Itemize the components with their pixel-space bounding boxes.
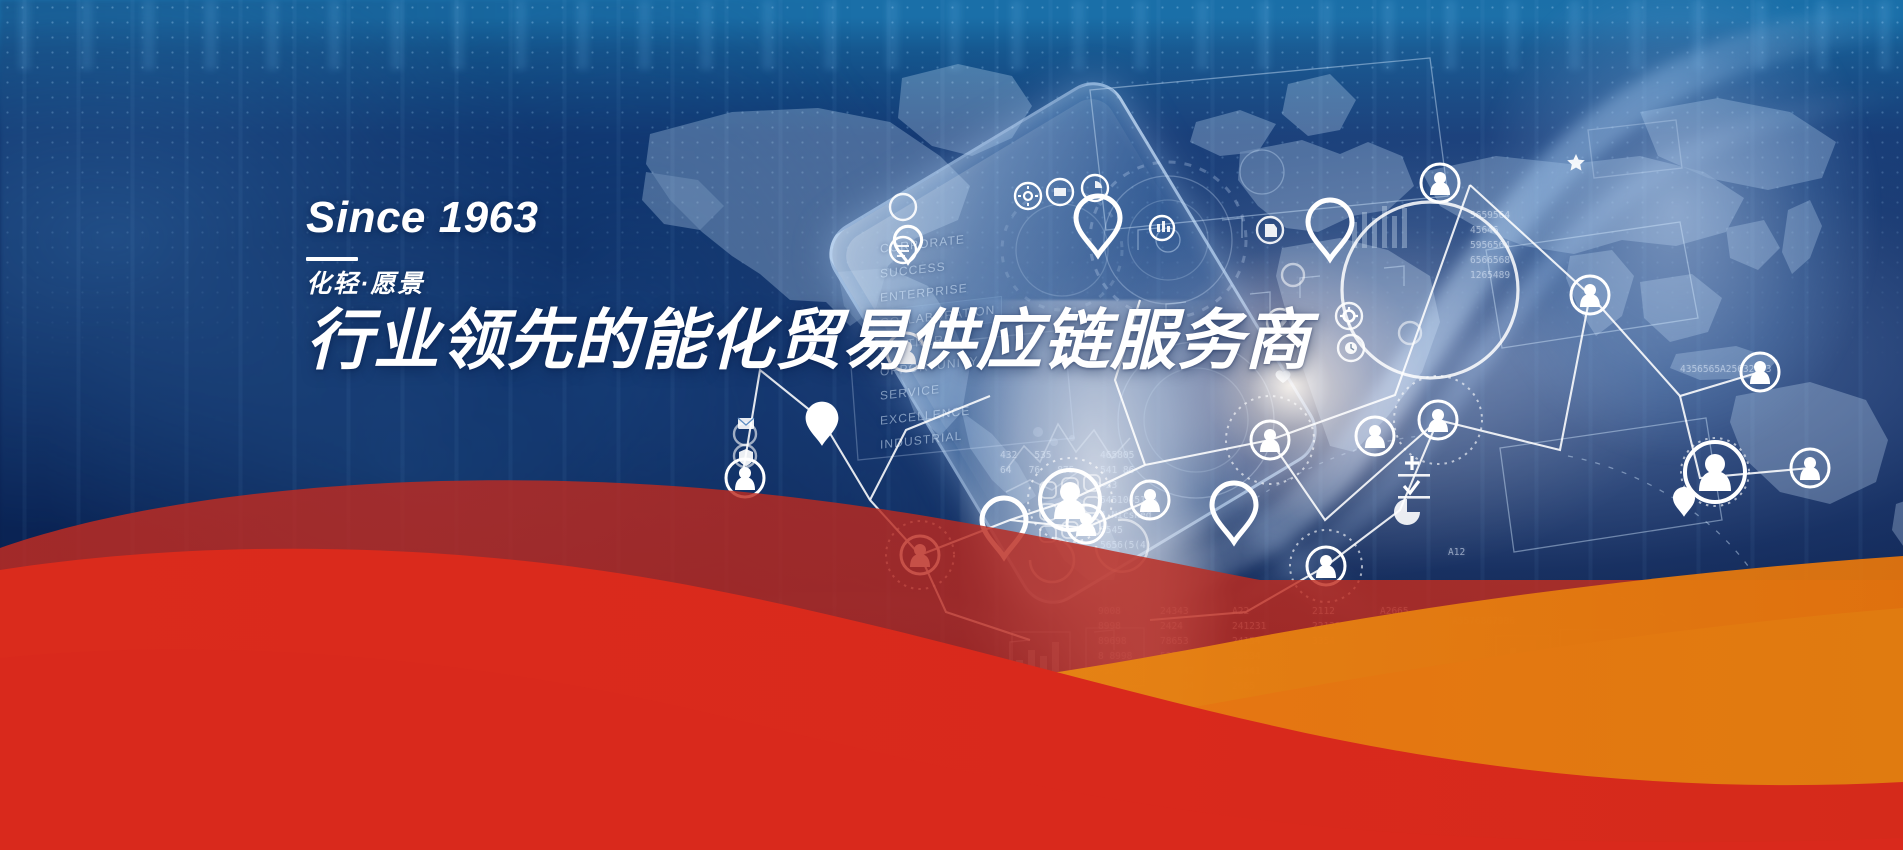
bottom-waves (0, 430, 1903, 850)
subtitle-vision: 化轻·愿景 (306, 272, 1311, 297)
eyebrow-since: Since 1963 (306, 196, 1311, 240)
divider-rule (306, 257, 358, 261)
hero-banner: CORPORATE SUCCESS ENTERPRISE COLLABORATI… (0, 0, 1903, 850)
hero-copy: Since 1963 化轻·愿景 行业领先的能化贸易供应链服务商 (306, 196, 1311, 376)
page-title: 行业领先的能化贸易供应链服务商 (306, 306, 1311, 376)
